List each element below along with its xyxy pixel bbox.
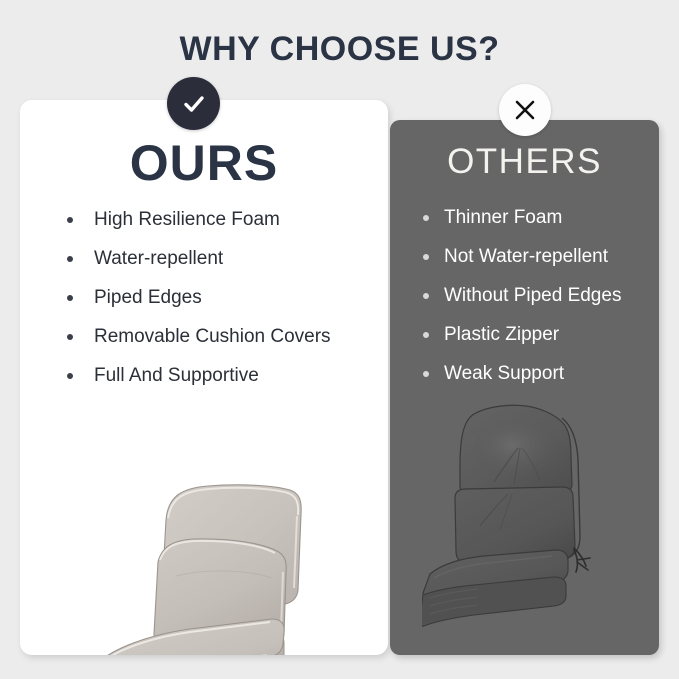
ours-feature-label: Removable Cushion Covers (94, 326, 331, 347)
ours-feature-label: Water-repellent (94, 248, 223, 269)
others-feature-label: Weak Support (444, 363, 564, 384)
ours-feature-label: Full And Supportive (94, 365, 259, 386)
cross-badge (499, 84, 551, 136)
ours-heading: OURS (20, 136, 388, 190)
bullet-dot-icon (67, 334, 73, 340)
infographic-canvas: WHY CHOOSE US? OURS High Resilience Foam… (0, 0, 679, 679)
check-badge (167, 77, 220, 130)
page-title: WHY CHOOSE US? (0, 30, 679, 68)
bullet-dot-icon (423, 332, 429, 338)
close-icon (512, 97, 538, 123)
ours-product-image (58, 472, 358, 655)
others-product-image (422, 388, 627, 628)
others-feature-label: Thinner Foam (444, 207, 562, 228)
list-item: Plastic Zipper (414, 315, 659, 354)
list-item: Full And Supportive (48, 356, 378, 395)
others-feature-list: Thinner Foam Not Water-repellent Without… (414, 198, 659, 393)
ours-feature-list: High Resilience Foam Water-repellent Pip… (48, 200, 378, 395)
ours-feature-label: High Resilience Foam (94, 209, 280, 230)
others-heading: OTHERS (390, 142, 659, 182)
list-item: Thinner Foam (414, 198, 659, 237)
bullet-dot-icon (423, 215, 429, 221)
bullet-dot-icon (423, 293, 429, 299)
check-icon (179, 89, 209, 119)
list-item: Piped Edges (48, 278, 378, 317)
list-item: Removable Cushion Covers (48, 317, 378, 356)
others-feature-label: Plastic Zipper (444, 324, 559, 345)
bullet-dot-icon (67, 373, 73, 379)
bullet-dot-icon (67, 295, 73, 301)
list-item: Not Water-repellent (414, 237, 659, 276)
list-item: Water-repellent (48, 239, 378, 278)
bullet-dot-icon (423, 371, 429, 377)
bullet-dot-icon (423, 254, 429, 260)
ours-feature-label: Piped Edges (94, 287, 202, 308)
bullet-dot-icon (67, 217, 73, 223)
bullet-dot-icon (67, 256, 73, 262)
others-feature-label: Not Water-repellent (444, 246, 608, 267)
list-item: Without Piped Edges (414, 276, 659, 315)
others-feature-label: Without Piped Edges (444, 285, 621, 306)
list-item: Weak Support (414, 354, 659, 393)
list-item: High Resilience Foam (48, 200, 378, 239)
others-panel: OTHERS Thinner Foam Not Water-repellent … (390, 120, 659, 655)
ours-panel: OURS High Resilience Foam Water-repellen… (20, 100, 388, 655)
